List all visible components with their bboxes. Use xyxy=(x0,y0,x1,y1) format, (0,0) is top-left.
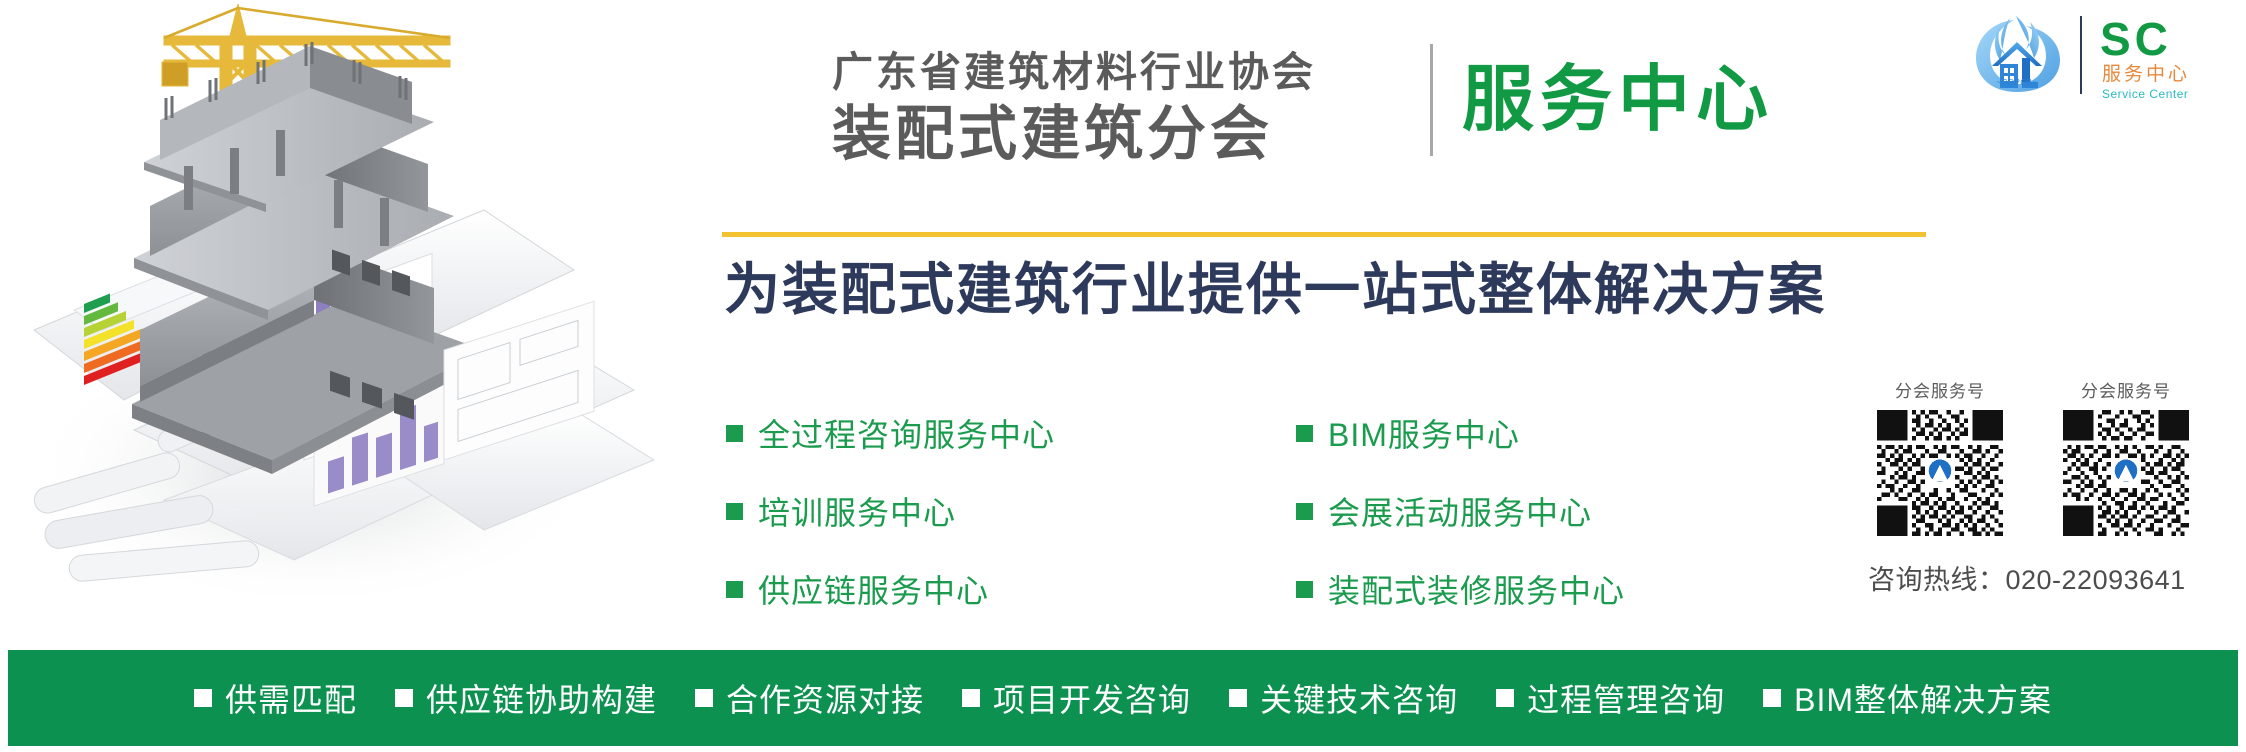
yellow-divider-rule xyxy=(722,232,1926,237)
service-label: 全过程咨询服务中心 xyxy=(758,410,1055,456)
qr-code-icon[interactable] xyxy=(1877,410,2003,536)
list-item[interactable]: 全过程咨询服务中心 xyxy=(726,408,1296,458)
square-bullet-icon xyxy=(726,503,743,520)
header-vertical-divider xyxy=(1430,44,1433,156)
list-item[interactable]: 会展活动服务中心 xyxy=(1296,486,1786,536)
association-name-line1: 广东省建筑材料行业协会 xyxy=(832,48,1432,96)
association-name-line2: 装配式建筑分会 xyxy=(832,100,1432,168)
bottom-bar-label: 供需匹配 xyxy=(225,675,357,721)
association-name-block: 广东省建筑材料行业协会 装配式建筑分会 xyxy=(832,48,1432,168)
bottom-bar-label: 供应链协助构建 xyxy=(426,675,657,721)
illustration-building-model xyxy=(14,0,674,640)
service-label: 供应链服务中心 xyxy=(758,566,989,612)
bottom-services-bar: 供需匹配 供应链协助构建 合作资源对接 项目开发咨询 关键技术咨询 过程管理咨询… xyxy=(8,650,2238,746)
bottom-bar-label: 关键技术咨询 xyxy=(1260,675,1458,721)
list-item[interactable]: BIM整体解决方案 xyxy=(1763,675,2052,721)
service-list-left-column: 全过程咨询服务中心 培训服务中心 供应链服务中心 xyxy=(726,408,1296,642)
square-bullet-icon xyxy=(962,689,980,707)
list-item[interactable]: 供需匹配 xyxy=(194,675,357,721)
page-headline: 为装配式建筑行业提供一站式整体解决方案 xyxy=(724,256,1826,324)
bottom-bar-label: 过程管理咨询 xyxy=(1527,675,1725,721)
square-bullet-icon xyxy=(726,425,743,442)
square-bullet-icon xyxy=(395,689,413,707)
service-label: 装配式装修服务中心 xyxy=(1328,566,1625,612)
service-center-list: 全过程咨询服务中心 培训服务中心 供应链服务中心 BIM服务中心 会展活动服务中… xyxy=(726,408,1786,642)
qr-cell[interactable]: 分会服务号 xyxy=(2048,382,2204,536)
square-bullet-icon xyxy=(1496,689,1514,707)
promotional-banner: 广东省建筑材料行业协会 装配式建筑分会 服务中心 为装配式建筑行业提供一站式整体… xyxy=(0,0,2246,752)
square-bullet-icon xyxy=(1296,503,1313,520)
bottom-bar-label: BIM整体解决方案 xyxy=(1794,675,2052,721)
list-item[interactable]: 项目开发咨询 xyxy=(962,675,1191,721)
list-item[interactable]: 供应链协助构建 xyxy=(395,675,657,721)
service-label: 会展活动服务中心 xyxy=(1328,488,1592,534)
illustration-graphic xyxy=(14,0,674,640)
qr-code-row: 分会服务号 xyxy=(1862,382,2234,536)
service-list-right-column: BIM服务中心 会展活动服务中心 装配式装修服务中心 xyxy=(1296,408,1786,642)
list-item[interactable]: 关键技术咨询 xyxy=(1229,675,1458,721)
list-item[interactable]: 过程管理咨询 xyxy=(1496,675,1725,721)
square-bullet-icon xyxy=(1296,581,1313,598)
square-bullet-icon xyxy=(695,689,713,707)
qr-code-icon[interactable] xyxy=(2063,410,2189,536)
list-item[interactable]: BIM服务中心 xyxy=(1296,408,1786,458)
hotline-text: 咨询热线：020-22093641 xyxy=(1862,558,2234,597)
logo-gdpcb-text: ~GDPCB~ xyxy=(1970,78,2064,87)
service-label: BIM服务中心 xyxy=(1328,410,1520,456)
qr-contact-block: 分会服务号 xyxy=(1862,382,2234,597)
logo-english-text: Service Center xyxy=(2102,87,2188,101)
logo-abbreviation: SC xyxy=(2100,16,2172,62)
logo-divider xyxy=(2080,16,2082,94)
logo-chinese-text: 服务中心 xyxy=(2102,64,2190,86)
brand-logo[interactable]: ~GDPCB~ SC 服务中心 Service Center xyxy=(1970,8,2232,104)
bottom-bar-label: 项目开发咨询 xyxy=(993,675,1191,721)
square-bullet-icon xyxy=(1296,425,1313,442)
service-center-title: 服务中心 xyxy=(1462,54,1774,146)
list-item[interactable]: 培训服务中心 xyxy=(726,486,1296,536)
list-item[interactable]: 供应链服务中心 xyxy=(726,564,1296,614)
list-item[interactable]: 合作资源对接 xyxy=(695,675,924,721)
qr-caption: 分会服务号 xyxy=(1862,382,2018,402)
square-bullet-icon xyxy=(726,581,743,598)
bottom-bar-label: 合作资源对接 xyxy=(726,675,924,721)
qr-cell[interactable]: 分会服务号 xyxy=(1862,382,2018,536)
service-label: 培训服务中心 xyxy=(758,488,956,534)
square-bullet-icon xyxy=(194,689,212,707)
square-bullet-icon xyxy=(1763,689,1781,707)
qr-caption: 分会服务号 xyxy=(2048,382,2204,402)
list-item[interactable]: 装配式装修服务中心 xyxy=(1296,564,1786,614)
square-bullet-icon xyxy=(1229,689,1247,707)
